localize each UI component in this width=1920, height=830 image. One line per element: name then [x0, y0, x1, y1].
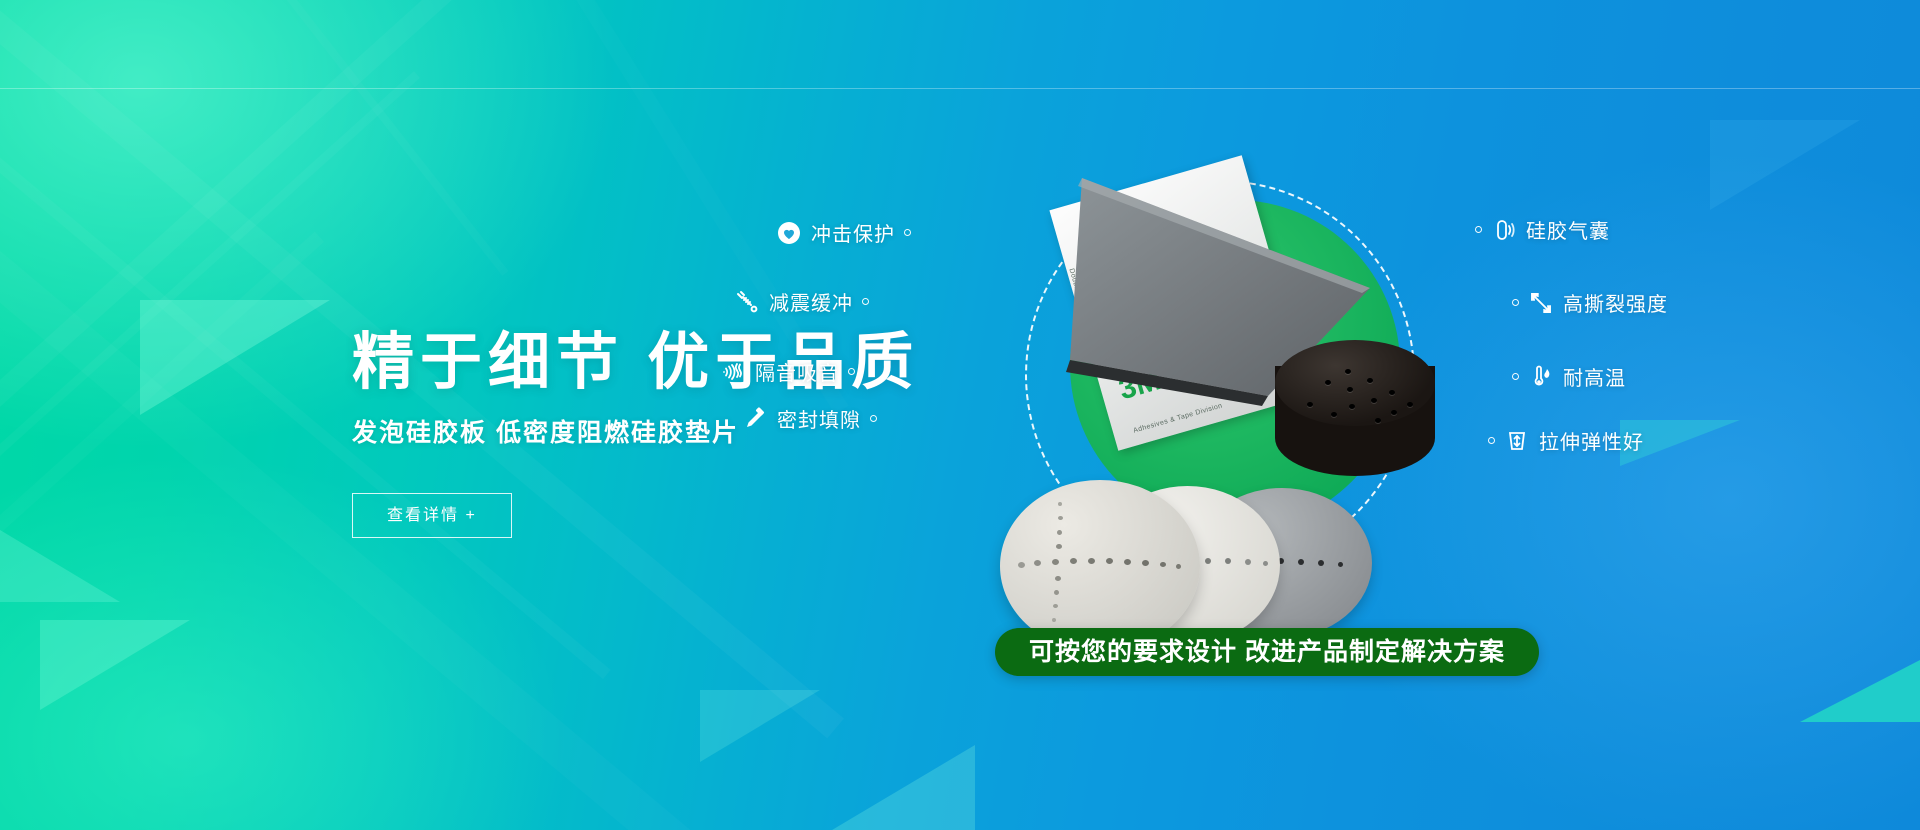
decorative-streak — [244, 0, 509, 276]
perforation-hole — [1389, 390, 1395, 395]
feature-item-gap-sealing[interactable]: 密封填隙 — [742, 404, 877, 433]
product-perforated-disc — [1000, 480, 1200, 652]
perforation-hole — [1367, 378, 1373, 383]
connector-dot — [870, 415, 877, 422]
hero-copy: 精于细节 优于品质 发泡硅胶板 低密度阻燃硅胶垫片 查看详情 + — [352, 330, 972, 538]
feature-item-tensile-elasticity[interactable]: 拉伸弹性好 — [1488, 426, 1644, 455]
connector-dot — [1512, 299, 1519, 306]
decorative-streak — [0, 231, 324, 750]
feature-item-impact-protection[interactable]: 冲击保护 — [776, 218, 911, 247]
perforation-hole — [1307, 402, 1313, 407]
vertical-stretch-icon — [1504, 428, 1530, 454]
decorative-triangle-accent — [1800, 660, 1920, 722]
perforation-hole — [1391, 410, 1397, 415]
perforation-hole — [1331, 412, 1337, 417]
feature-label: 密封填隙 — [777, 404, 861, 433]
hero-banner: 精于细节 优于品质 发泡硅胶板 低密度阻燃硅胶垫片 查看详情 + 3M 3M 3… — [0, 0, 1920, 830]
solution-banner[interactable]: 可按您的要求设计 改进产品制定解决方案 — [995, 628, 1539, 676]
connector-dot — [1475, 226, 1482, 233]
feature-label: 隔音吸音 — [755, 357, 839, 386]
thermometer-flame-icon — [1528, 364, 1554, 390]
feature-item-heat-resistance[interactable]: 耐高温 — [1512, 362, 1626, 391]
shield-heart-icon — [776, 220, 802, 246]
feature-item-shock-absorption[interactable]: 减震缓冲 — [734, 287, 869, 316]
connector-dot — [1488, 437, 1495, 444]
perforation-hole — [1349, 404, 1355, 409]
feature-label: 高撕裂强度 — [1563, 288, 1668, 317]
product-feature-cluster: 3M 3M 3M Double Double Coated Tape Indus… — [880, 150, 1720, 710]
decorative-triangle — [700, 690, 820, 762]
connector-dot — [848, 368, 855, 375]
feature-label: 减震缓冲 — [769, 287, 853, 316]
feature-label: 拉伸弹性好 — [1539, 426, 1644, 455]
feature-label: 冲击保护 — [811, 218, 895, 247]
hero-subtitle: 发泡硅胶板 低密度阻燃硅胶垫片 — [352, 413, 972, 449]
feature-label: 硅胶气囊 — [1526, 215, 1610, 244]
perforation-hole — [1345, 369, 1351, 374]
view-details-button[interactable]: 查看详情 + — [352, 493, 512, 538]
perforation-hole — [1371, 398, 1377, 403]
decorative-triangle — [0, 530, 120, 602]
connector-dot — [862, 298, 869, 305]
decorative-triangle — [790, 745, 975, 830]
perforation-hole — [1407, 402, 1413, 407]
airbag-icon — [1491, 217, 1517, 243]
sound-wave-icon — [720, 359, 746, 385]
feature-item-silicone-airbag[interactable]: 硅胶气囊 — [1475, 215, 1610, 244]
feature-label: 耐高温 — [1563, 362, 1626, 391]
feature-item-tear-strength[interactable]: 高撕裂强度 — [1512, 288, 1668, 317]
product-black-foam-disc — [1275, 340, 1435, 500]
disc-top — [1275, 340, 1435, 426]
glue-syringe-icon — [742, 406, 768, 432]
connector-dot — [904, 229, 911, 236]
perforation-hole — [1325, 380, 1331, 385]
horizontal-divider-line — [0, 88, 1920, 89]
decorative-triangle — [140, 300, 330, 415]
page-title: 精于细节 优于品质 — [352, 330, 972, 397]
decorative-triangle — [1710, 120, 1860, 210]
perforation-hole — [1347, 387, 1353, 392]
decorative-triangle — [40, 620, 190, 710]
expand-arrows-icon — [1528, 290, 1554, 316]
feature-item-sound-insulation[interactable]: 隔音吸音 — [720, 357, 855, 386]
perforation-hole — [1375, 418, 1381, 423]
connector-dot — [1512, 373, 1519, 380]
shock-absorber-icon — [734, 289, 760, 315]
